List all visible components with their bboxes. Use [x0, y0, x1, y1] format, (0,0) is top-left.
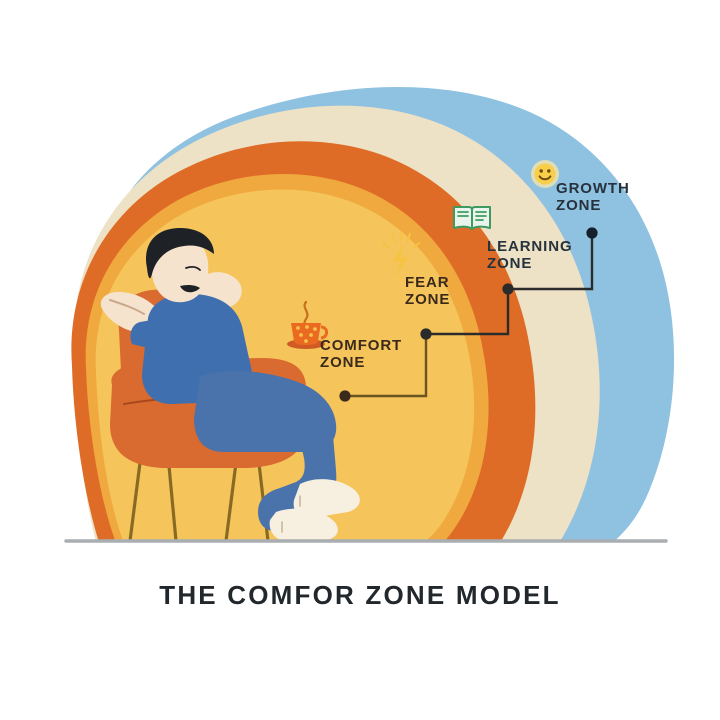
smiley-face-icon	[531, 160, 559, 188]
connector-dot-learning	[502, 283, 513, 294]
connector-dot-fear	[420, 328, 431, 339]
book-left-page	[454, 207, 472, 229]
open-book-icon	[454, 207, 490, 229]
smiley-eye-right	[547, 169, 550, 172]
page-title: THE COMFOR ZONE MODEL	[0, 580, 720, 611]
smiley-face	[535, 164, 556, 185]
book-right-page	[472, 207, 490, 229]
zone-label-growth[interactable]: GROWTH ZONE	[556, 181, 630, 215]
comfort-zone-model-infographic: COMFORT ZONE FEAR ZONE LEARNING ZONE GRO…	[0, 0, 720, 720]
zone-label-learning[interactable]: LEARNING ZONE	[487, 239, 573, 273]
connector-dot-comfort	[339, 390, 350, 401]
connector-dot-growth	[586, 227, 597, 238]
smiley-eye-left	[540, 169, 543, 172]
zone-label-comfort[interactable]: COMFORT ZONE	[320, 338, 402, 372]
zone-label-fear[interactable]: FEAR ZONE	[405, 275, 450, 309]
